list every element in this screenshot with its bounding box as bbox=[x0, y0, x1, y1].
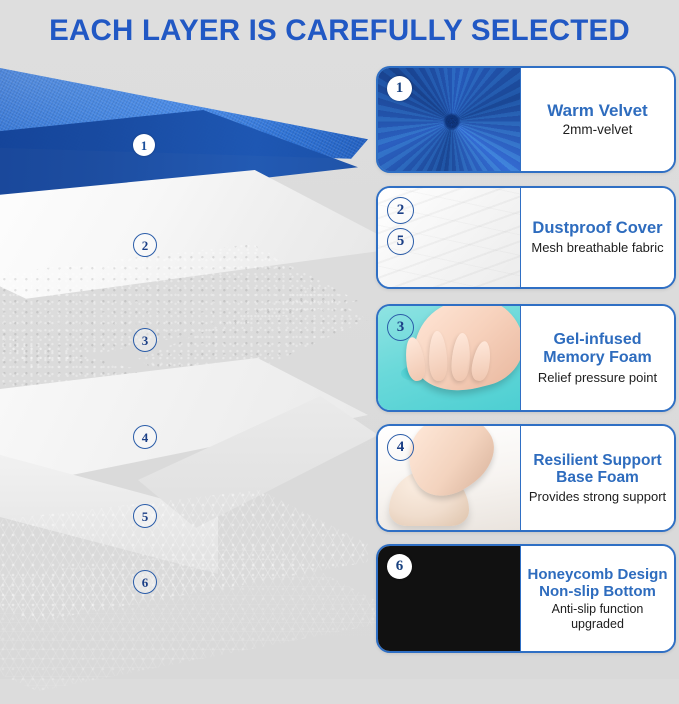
card-body-warm-velvet: Warm Velvet 2mm-velvet bbox=[521, 68, 674, 171]
infographic-page: EACH LAYER IS CAREFULLY SELECTED 1 2 3 4… bbox=[0, 0, 679, 679]
card-badge-4: 4 bbox=[387, 434, 414, 461]
card-body-gel-memory-foam: Gel-infused Memory Foam Relief pressure … bbox=[521, 306, 674, 410]
card-badge-3: 3 bbox=[387, 314, 414, 341]
card-subtitle: 2mm-velvet bbox=[563, 122, 633, 138]
feature-card-base-foam[interactable]: 4 Resilient Support Base Foam Provides s… bbox=[376, 424, 676, 532]
card-badge-6: 6 bbox=[387, 554, 412, 579]
card-media-honeycomb: 6 bbox=[378, 546, 521, 651]
feature-card-list: 1 Warm Velvet 2mm-velvet 2 5 Dustproof C… bbox=[376, 66, 673, 662]
card-title-line-1: Resilient Support bbox=[533, 452, 661, 470]
page-title: EACH LAYER IS CAREFULLY SELECTED bbox=[0, 14, 679, 48]
card-title-line-1: Honeycomb Design bbox=[527, 566, 667, 583]
card-badge-5: 5 bbox=[387, 228, 414, 255]
feature-card-honeycomb-bottom[interactable]: 6 Honeycomb Design Non-slip Bottom Anti-… bbox=[376, 544, 676, 653]
card-media-base-foam: 4 bbox=[378, 426, 521, 530]
stack-badge-5: 5 bbox=[133, 504, 157, 528]
card-body-base-foam: Resilient Support Base Foam Provides str… bbox=[521, 426, 674, 530]
card-subtitle: Provides strong support bbox=[529, 489, 666, 504]
card-subtitle: Relief pressure point bbox=[538, 370, 657, 385]
stack-badge-3: 3 bbox=[133, 328, 157, 352]
card-media-gel-foam: 3 bbox=[378, 306, 521, 410]
stack-badge-1: 1 bbox=[133, 134, 155, 156]
feature-card-warm-velvet[interactable]: 1 Warm Velvet 2mm-velvet bbox=[376, 66, 676, 173]
card-title-line-2: Base Foam bbox=[556, 469, 639, 487]
card-body-honeycomb-bottom: Honeycomb Design Non-slip Bottom Anti-sl… bbox=[521, 546, 674, 651]
card-title-line-2: Memory Foam bbox=[543, 349, 651, 367]
card-subtitle: Anti-slip function upgraded bbox=[527, 602, 668, 632]
feature-card-gel-memory-foam[interactable]: 3 Gel-infused Memory Foam Relief pressur… bbox=[376, 304, 676, 412]
card-title: Dustproof Cover bbox=[532, 219, 662, 238]
card-body-dustproof-cover: Dustproof Cover Mesh breathable fabric bbox=[521, 188, 674, 287]
card-media-white-fabric: 2 5 bbox=[378, 188, 521, 287]
card-subtitle: Mesh breathable fabric bbox=[531, 240, 663, 255]
layer-stack-illustration: 1 2 3 4 5 6 bbox=[0, 58, 378, 666]
stack-badge-6: 6 bbox=[133, 570, 157, 594]
feature-card-dustproof-cover[interactable]: 2 5 Dustproof Cover Mesh breathable fabr… bbox=[376, 186, 676, 289]
card-badge-2: 2 bbox=[387, 197, 414, 224]
card-badge-1: 1 bbox=[387, 76, 412, 101]
card-media-velvet: 1 bbox=[378, 68, 521, 171]
stack-badge-2: 2 bbox=[133, 233, 157, 257]
card-title-line-2: Non-slip Bottom bbox=[539, 583, 656, 600]
stack-badge-4: 4 bbox=[133, 425, 157, 449]
card-title: Warm Velvet bbox=[547, 101, 647, 120]
card-title-line-1: Gel-infused bbox=[553, 331, 641, 349]
